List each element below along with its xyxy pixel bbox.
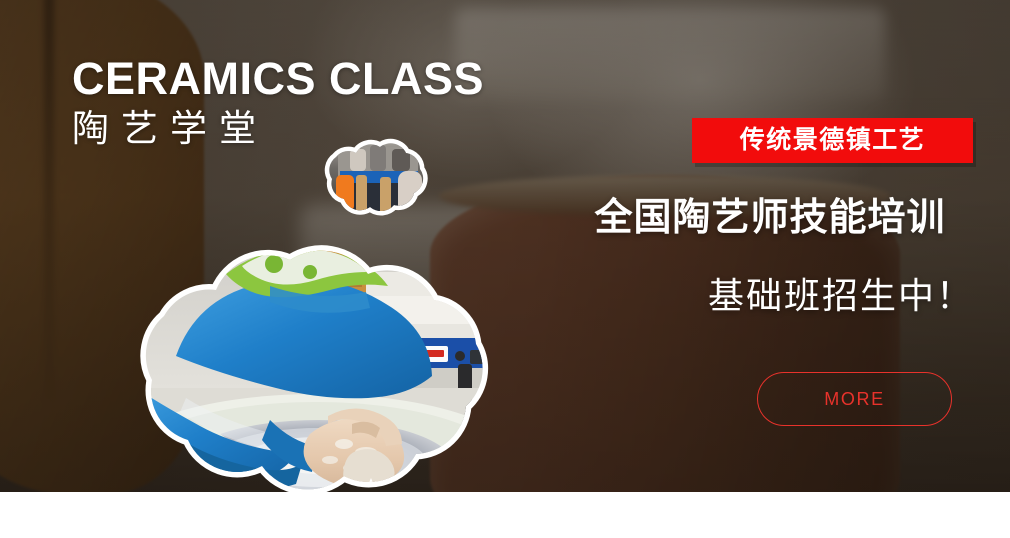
tradition-badge-label: 传统景德镇工艺: [740, 128, 926, 153]
cloud-photo-small: [316, 131, 440, 223]
bottom-white-band: [0, 492, 1010, 538]
lead-headline-secondary: 基础班招生中！: [566, 276, 974, 316]
page-title-english: CERAMICS CLASS: [72, 56, 484, 102]
cloud-photo-large: [66, 238, 534, 510]
lead-headline-primary: 全国陶艺师技能培训: [566, 198, 974, 240]
more-button-label: MORE: [824, 390, 884, 408]
more-button[interactable]: MORE: [757, 372, 952, 426]
ceramics-class-banner: CERAMICS CLASS 陶艺学堂: [0, 0, 1010, 538]
tradition-badge: 传统景德镇工艺: [692, 118, 973, 163]
